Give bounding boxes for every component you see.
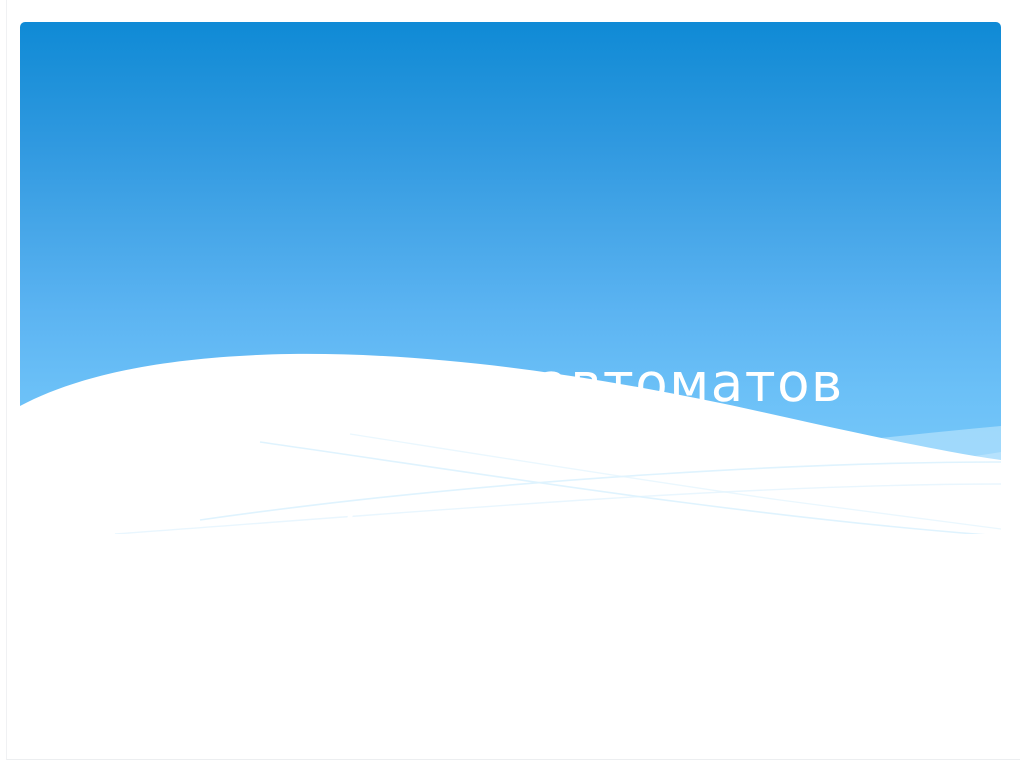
slide-title-line-2: (состояний) bbox=[80, 492, 944, 564]
slide-title: Диаграммы автоматов (состояний) bbox=[80, 276, 944, 636]
slide-root: Диаграммы автоматов (состояний) bbox=[0, 0, 1024, 767]
slide-title-line-1: Диаграммы автоматов bbox=[80, 348, 944, 420]
